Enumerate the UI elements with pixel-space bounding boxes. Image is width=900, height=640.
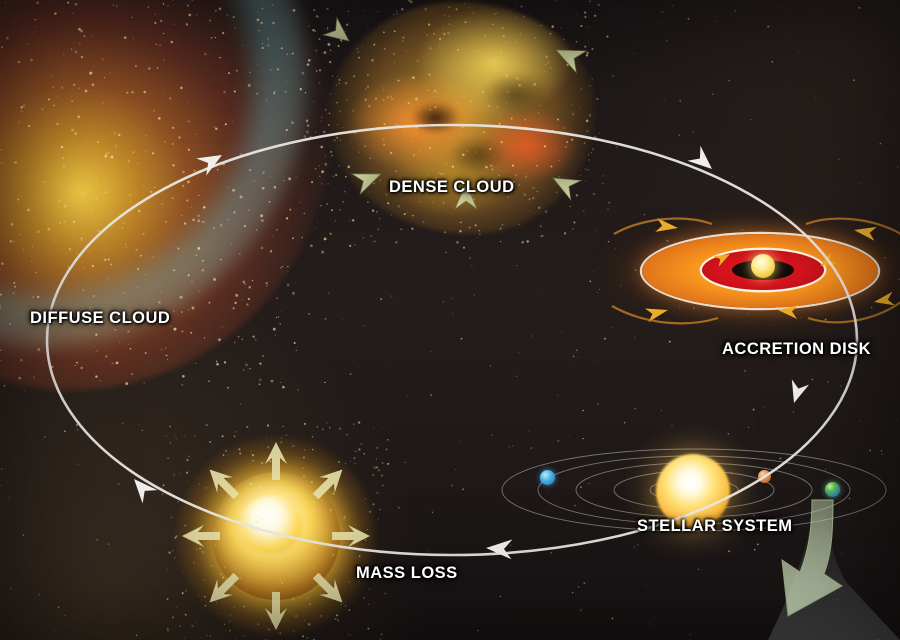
label-dense-cloud: DENSE CLOUD bbox=[389, 178, 515, 197]
label-mass-loss: MASS LOSS bbox=[356, 564, 458, 583]
label-accretion-disk: ACCRETION DISK bbox=[722, 340, 871, 359]
label-stellar-system: STELLAR SYSTEM bbox=[637, 517, 793, 536]
label-diffuse-cloud: DIFFUSE CLOUD bbox=[30, 309, 170, 328]
stellar-life-cycle-diagram: DIFFUSE CLOUD DENSE CLOUD ACCRETION DISK… bbox=[0, 0, 900, 640]
